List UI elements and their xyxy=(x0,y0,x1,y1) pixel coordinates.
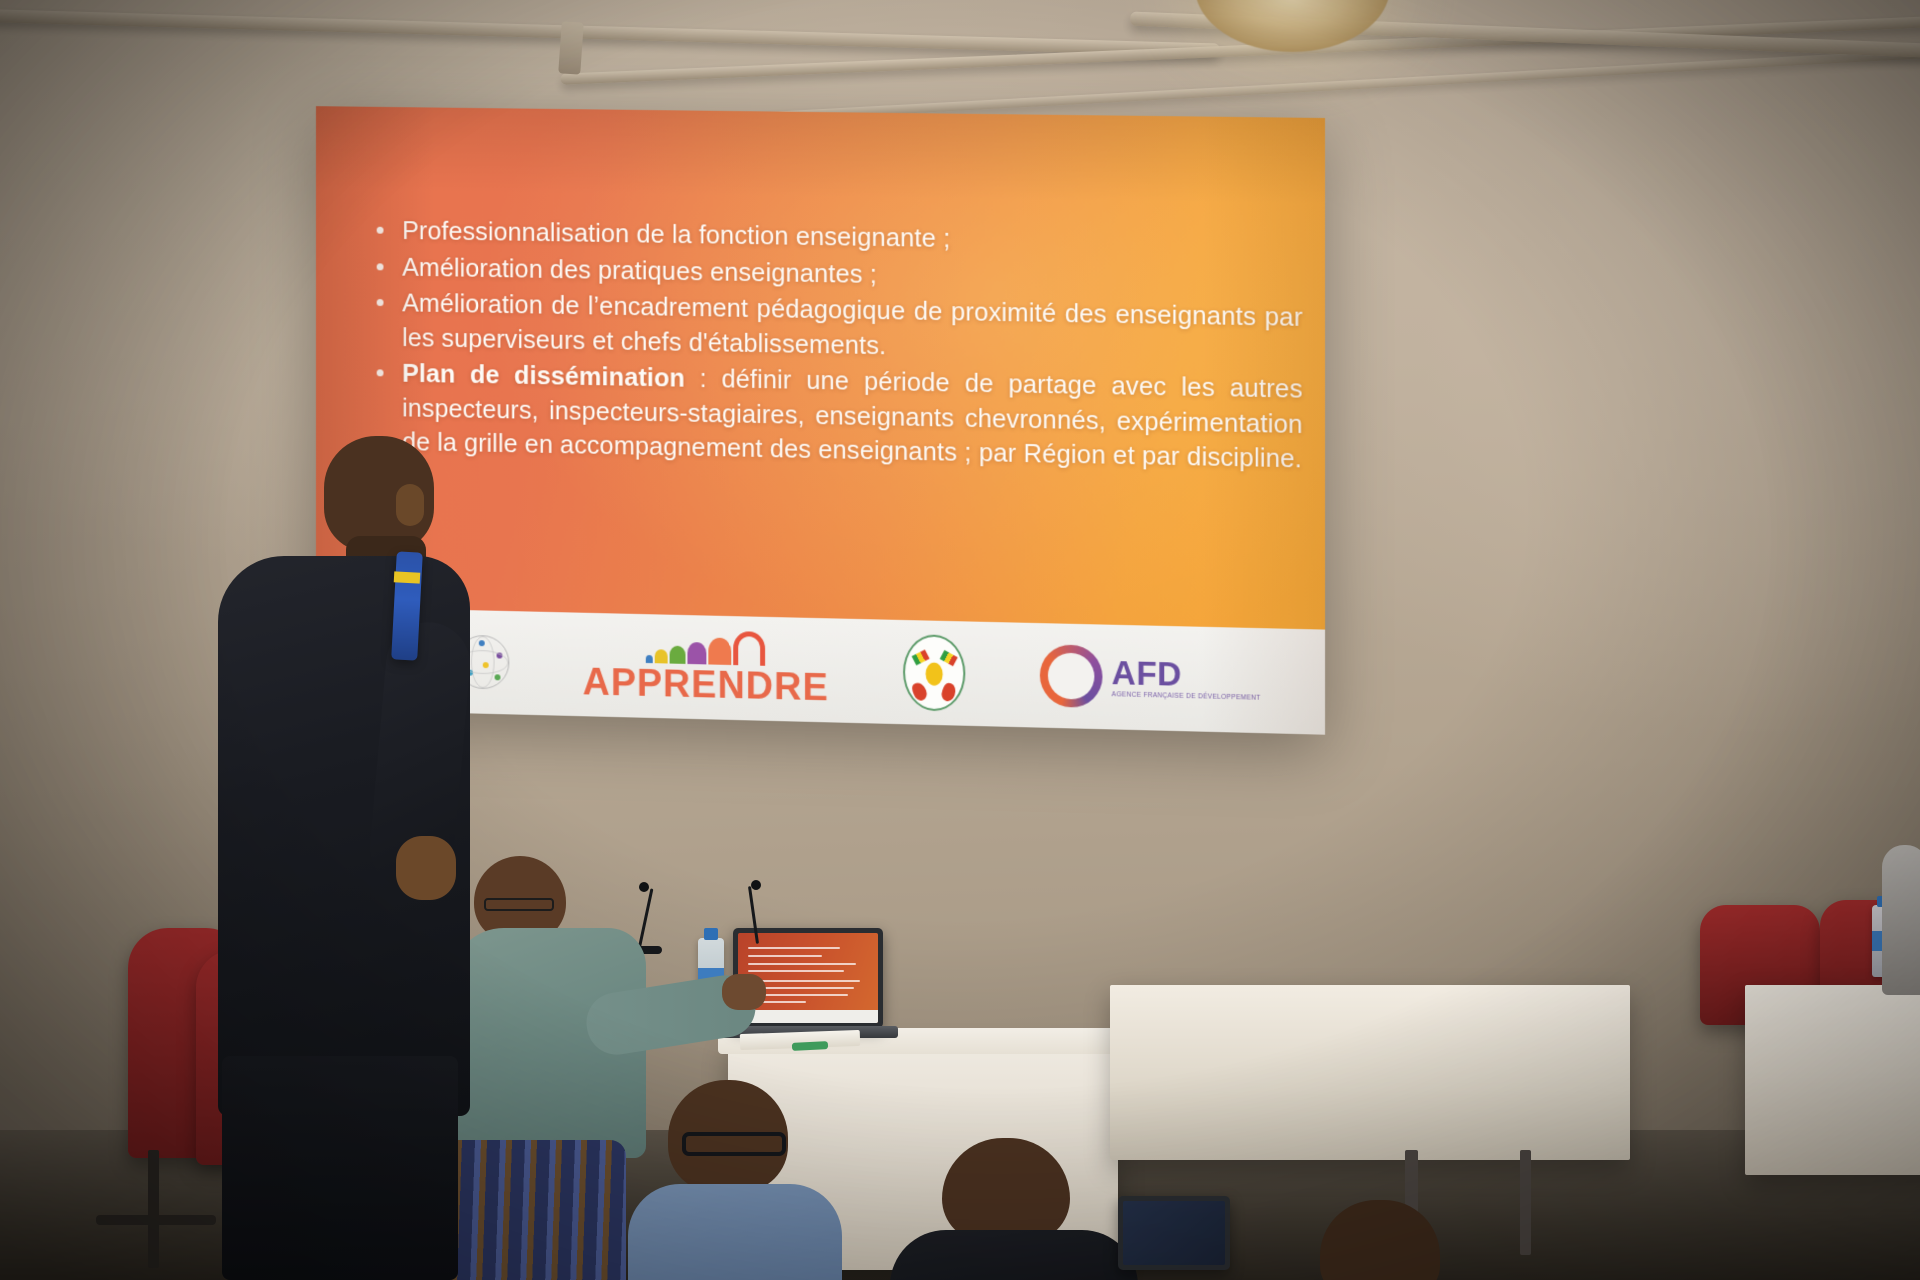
slide-content: Professionnalisation de la fonction ense… xyxy=(361,214,1303,480)
apprendre-arcs-icon xyxy=(646,629,765,666)
bullet-text: Professionnalisation de la fonction ense… xyxy=(402,217,950,253)
chair-leg xyxy=(96,1215,216,1225)
afd-logo-text: AFD xyxy=(1112,656,1261,693)
attendee-laptop-screen xyxy=(1123,1201,1225,1265)
slide-bullet-list: Professionnalisation de la fonction ense… xyxy=(361,214,1303,478)
afd-logo: AFD AGENCE FRANÇAISE DE DÉVELOPPEMENT xyxy=(1040,644,1261,712)
seated-attendee-far-right xyxy=(1882,845,1920,1035)
apprendre-logo: APPRENDRE xyxy=(583,628,829,708)
bullet-bold-prefix: Plan de dissémination xyxy=(402,360,685,393)
screenshot-root: Professionnalisation de la fonction ense… xyxy=(0,0,1920,1280)
table-leg xyxy=(1520,1150,1531,1255)
attendee-laptop[interactable] xyxy=(1118,1196,1230,1270)
national-emblem-logo xyxy=(903,634,965,712)
bullet-text: Amélioration des pratiques enseignantes … xyxy=(402,253,877,288)
seated-attendee-center-glasses xyxy=(620,1080,850,1280)
chair-leg xyxy=(148,1150,159,1268)
microphone-head xyxy=(751,880,761,890)
bullet-item-plan-dissemination: Plan de dissémination : définir une péri… xyxy=(361,356,1303,477)
bullet-text: Amélioration de l’encadrement pédagogiqu… xyxy=(402,290,1302,360)
microphone-band xyxy=(394,571,421,583)
seated-attendee-right-edge xyxy=(1310,1200,1490,1280)
apprendre-logo-text: APPRENDRE xyxy=(583,663,829,707)
back-table xyxy=(1110,985,1630,1160)
afd-ring-icon xyxy=(1040,644,1103,708)
presenter-standing xyxy=(200,436,490,1280)
laptop-mini-footer xyxy=(738,1010,878,1023)
emblem-center-icon xyxy=(926,662,943,685)
seated-attendee-front-right xyxy=(890,1138,1140,1280)
afd-logo-subtitle: AGENCE FRANÇAISE DE DÉVELOPPEMENT xyxy=(1112,692,1261,702)
